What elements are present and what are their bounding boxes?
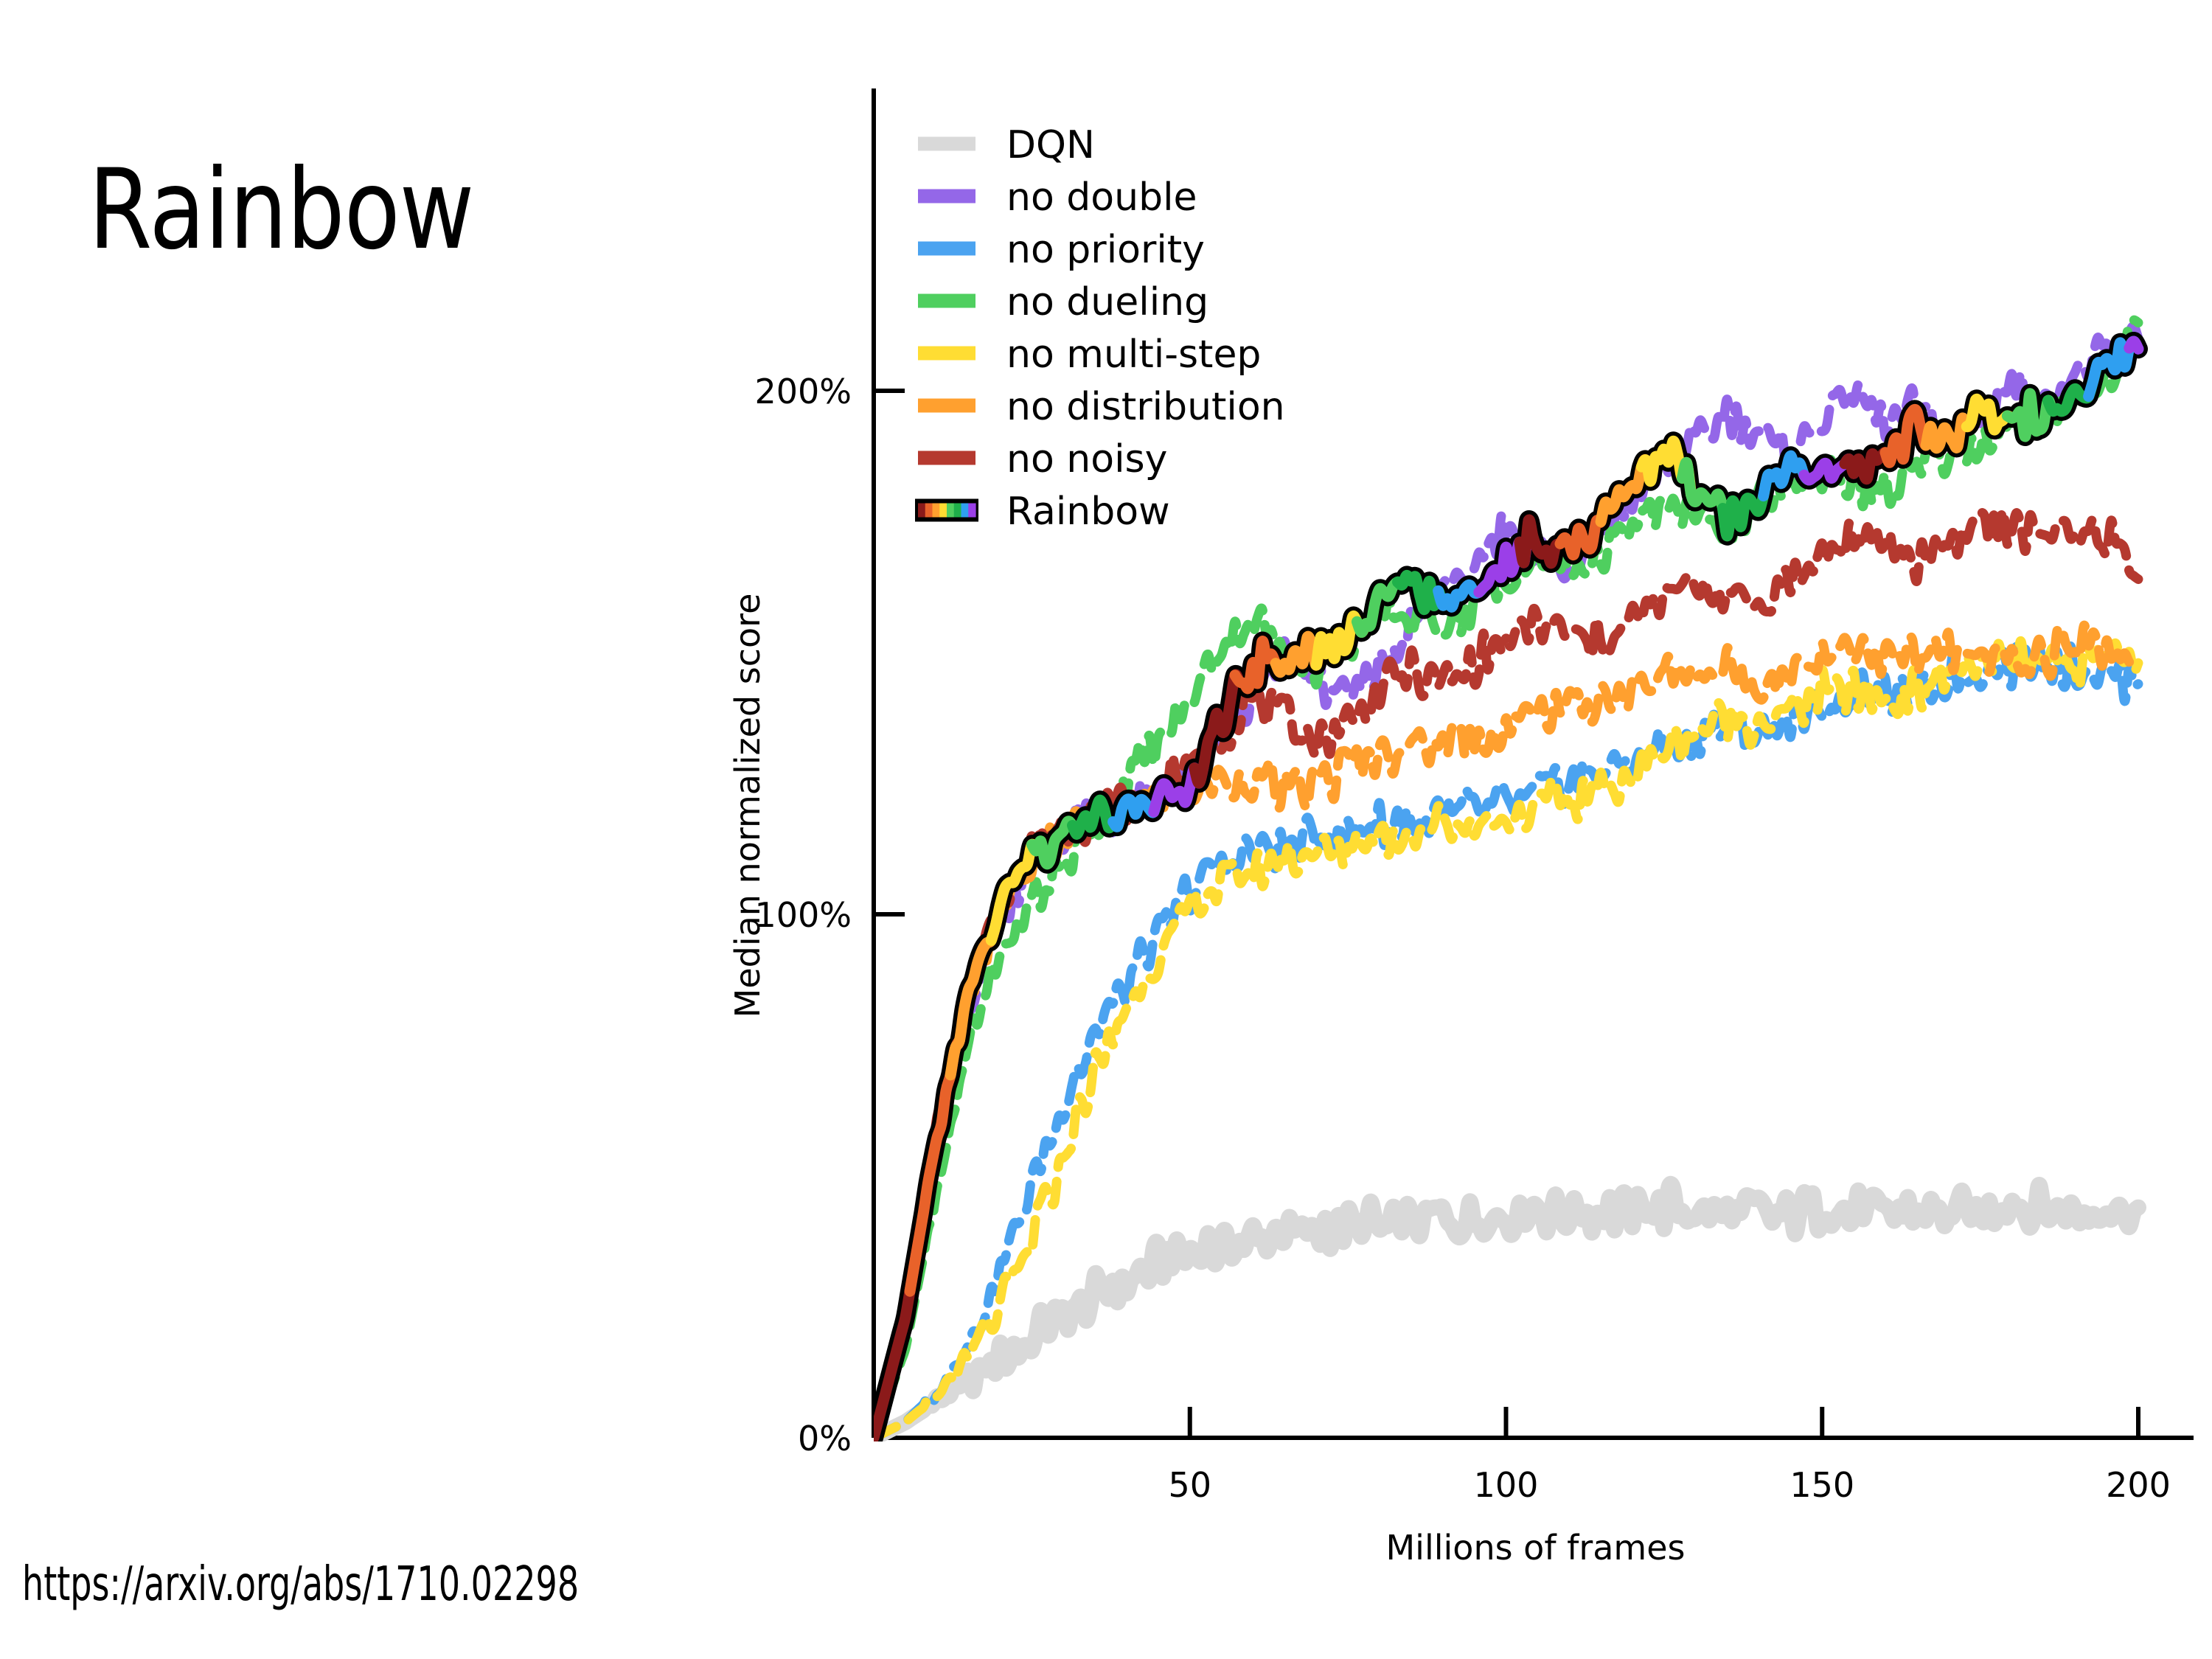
legend-swatch-rainbow-band [933, 504, 940, 518]
series-line-DQN [874, 1184, 2138, 1438]
x-axis-label: Millions of frames [1385, 1528, 1685, 1563]
page-title: Rainbow [88, 155, 473, 265]
legend-label: no priority [1006, 228, 1205, 272]
legend-swatch-rainbow-band [961, 504, 969, 518]
legend-label: Rainbow [1006, 490, 1170, 534]
legend-swatch [918, 399, 975, 413]
legend-swatch [918, 137, 975, 151]
legend-swatch-rainbow-band [925, 504, 933, 518]
x-tick-label: 200 [2106, 1465, 2171, 1505]
rainbow-performance-chart: 0%100%200%50100150200Millions of framesM… [664, 44, 2212, 1563]
source-url-link[interactable]: https://arxiv.org/abs/1710.02298 [22, 1557, 579, 1612]
legend-swatch [918, 189, 975, 204]
y-tick-label: 100% [754, 895, 852, 935]
legend-label: no distribution [1006, 385, 1285, 429]
plot-area [874, 320, 2138, 1438]
x-tick-label: 150 [1790, 1465, 1854, 1505]
legend-swatch-rainbow-band [947, 504, 954, 518]
legend-swatch [918, 242, 975, 256]
y-axis-label: Median normalized score [728, 594, 768, 1018]
y-tick-label: 0% [798, 1419, 852, 1458]
chart-svg: 0%100%200%50100150200Millions of framesM… [664, 44, 2212, 1563]
x-tick-label: 100 [1474, 1465, 1539, 1505]
chart-legend: DQNno doubleno priorityno duelingno mult… [915, 123, 1285, 534]
legend-swatch [918, 347, 975, 361]
legend-swatch-rainbow-band [939, 504, 947, 518]
series-line-no-dueling [874, 320, 2138, 1438]
legend-label: no multi-step [1006, 333, 1261, 377]
legend-swatch [918, 451, 975, 465]
legend-swatch [918, 294, 975, 308]
legend-swatch-rainbow-band [918, 504, 925, 518]
legend-label: no noisy [1006, 437, 1167, 481]
series-line-Rainbow-segment [2129, 341, 2138, 349]
legend-swatch-rainbow-band [954, 504, 961, 518]
legend-swatch-rainbow-band [968, 504, 975, 518]
x-tick-label: 50 [1168, 1465, 1211, 1505]
legend-label: no double [1006, 175, 1197, 220]
legend-label: DQN [1006, 123, 1095, 167]
legend-label: no dueling [1006, 280, 1208, 324]
y-tick-label: 200% [754, 372, 852, 411]
